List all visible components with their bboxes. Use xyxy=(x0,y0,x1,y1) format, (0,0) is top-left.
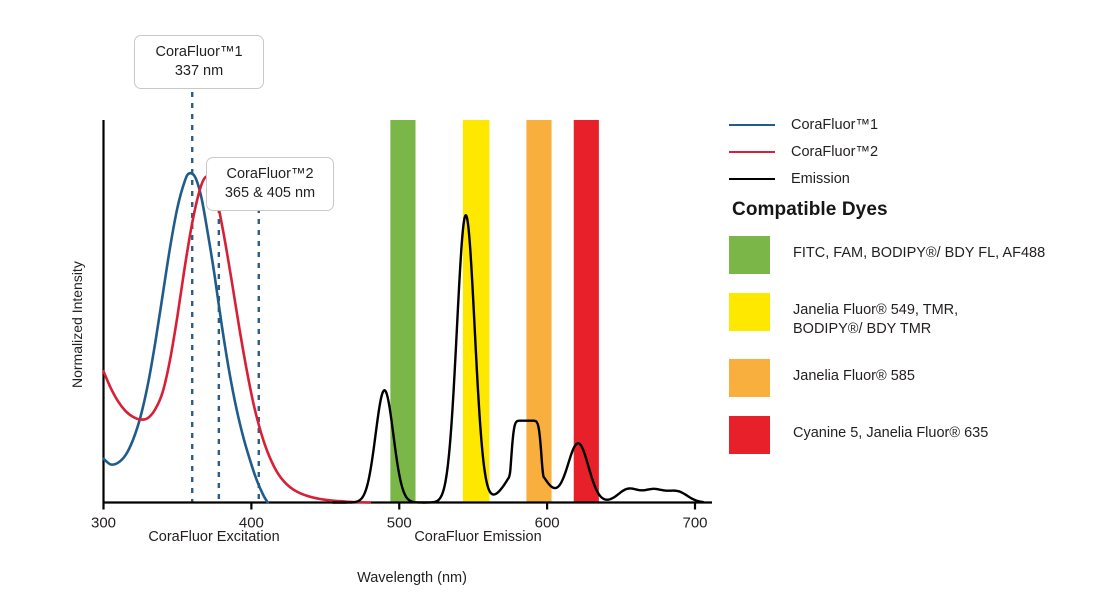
dye-label-line1: Janelia Fluor® 549, TMR, xyxy=(793,302,958,318)
x-tick-label-700: 700 xyxy=(682,515,707,532)
x-axis-ticks: 300400500600700 xyxy=(91,503,708,532)
dye-label-line1: Janelia Fluor® 585 xyxy=(793,368,915,384)
legend-line-label: CoraFluor™2 xyxy=(791,144,878,160)
legend-line-label: CoraFluor™1 xyxy=(791,117,878,133)
dye-label: Janelia Fluor® 549, TMR,BODIPY®/ BDY TMR xyxy=(793,293,958,340)
callout-corafluor2-line1: CoraFluor™2 xyxy=(219,165,321,184)
chart-container: 300400500600700 Normalized Intensity Cor… xyxy=(0,0,1110,612)
curve-corafluor1 xyxy=(104,173,268,502)
dye-color-swatch xyxy=(729,359,770,397)
plot-area: 300400500600700 Normalized Intensity Cor… xyxy=(0,0,720,612)
x-axis-title: Wavelength (nm) xyxy=(357,570,467,586)
callout-corafluor1-line1: CoraFluor™1 xyxy=(147,43,251,62)
legend-row-2: CoraFluor™2 xyxy=(729,138,1110,165)
dye-label-line1: FITC, FAM, BODIPY®/ BDY FL, AF488 xyxy=(793,245,1045,261)
dye-row-3: Janelia Fluor® 585 xyxy=(729,359,1110,397)
legend-line-swatch xyxy=(729,151,775,153)
dye-color-swatch xyxy=(729,416,770,454)
curve-emission xyxy=(333,215,703,502)
emission-filter-bands xyxy=(390,120,599,503)
dye-row-2: Janelia Fluor® 549, TMR,BODIPY®/ BDY TMR xyxy=(729,293,1110,340)
callout-corafluor1: CoraFluor™1 337 nm xyxy=(134,35,264,89)
compatible-dyes-list: FITC, FAM, BODIPY®/ BDY FL, AF488Janelia… xyxy=(729,236,1110,473)
excitation-region-label: CoraFluor Excitation xyxy=(148,529,279,545)
dye-color-swatch xyxy=(729,236,770,274)
dye-label: Janelia Fluor® 585 xyxy=(793,359,915,386)
legend-row-1: CoraFluor™1 xyxy=(729,111,1110,138)
compatible-dyes-heading: Compatible Dyes xyxy=(732,199,888,221)
callout-corafluor1-line2: 337 nm xyxy=(147,62,251,81)
dye-label-line2: BODIPY®/ BDY TMR xyxy=(793,320,958,339)
orange-band xyxy=(526,120,551,503)
red-band xyxy=(574,120,599,503)
callout-corafluor2: CoraFluor™2 365 & 405 nm xyxy=(206,157,334,211)
callout-corafluor2-line2: 365 & 405 nm xyxy=(219,184,321,203)
spectra-plot-svg: 300400500600700 Normalized Intensity Cor… xyxy=(0,0,720,612)
y-axis-label: Normalized Intensity xyxy=(69,261,85,388)
excitation-guide-lines xyxy=(192,92,259,503)
legend-panel: CoraFluor™1CoraFluor™2Emission Compatibl… xyxy=(729,0,1110,612)
dye-label: Cyanine 5, Janelia Fluor® 635 xyxy=(793,416,988,443)
curve-corafluor2 xyxy=(104,177,370,503)
series-legend: CoraFluor™1CoraFluor™2Emission xyxy=(729,111,1110,192)
yellow-band xyxy=(463,120,490,503)
dye-label: FITC, FAM, BODIPY®/ BDY FL, AF488 xyxy=(793,236,1045,263)
dye-color-swatch xyxy=(729,293,770,331)
legend-line-swatch xyxy=(729,178,775,180)
dye-row-4: Cyanine 5, Janelia Fluor® 635 xyxy=(729,416,1110,454)
x-tick-label-300: 300 xyxy=(91,515,116,532)
x-tick-label-500: 500 xyxy=(387,515,412,532)
legend-row-3: Emission xyxy=(729,165,1110,192)
legend-line-label: Emission xyxy=(791,171,850,187)
legend-line-swatch xyxy=(729,124,775,126)
dye-row-1: FITC, FAM, BODIPY®/ BDY FL, AF488 xyxy=(729,236,1110,274)
emission-region-label: CoraFluor Emission xyxy=(414,529,541,545)
dye-label-line1: Cyanine 5, Janelia Fluor® 635 xyxy=(793,425,988,441)
